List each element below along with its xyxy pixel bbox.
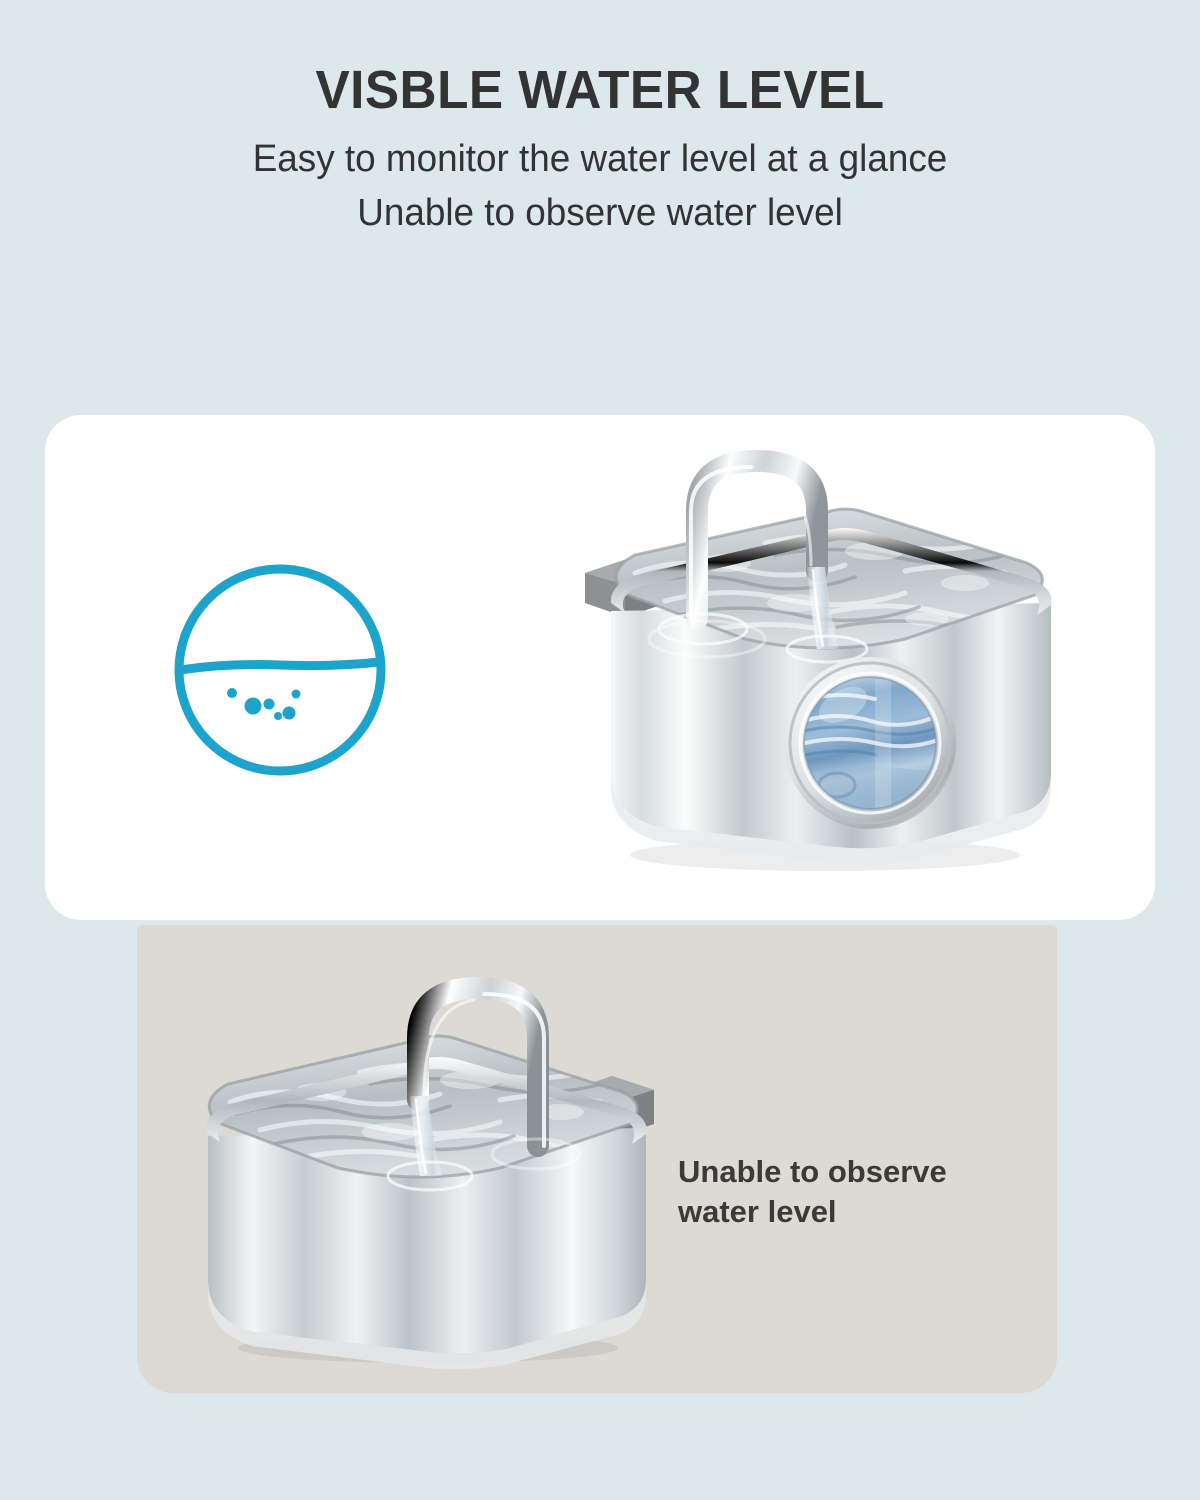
stainless-steel-pet-fountain-with-window	[575, 443, 1075, 903]
caption-line-1: Unable to observe	[678, 1152, 1028, 1192]
subtitle-line-2: Unable to observe water level	[18, 187, 1182, 241]
header: VISBLE WATER LEVEL Easy to monitor the w…	[0, 0, 1200, 241]
water-level-window	[784, 657, 956, 829]
stainless-steel-pet-fountain-no-window	[180, 950, 680, 1370]
water-level-circle-icon	[168, 558, 392, 782]
page-title: VISBLE WATER LEVEL	[30, 62, 1170, 119]
caption-line-2: water level	[678, 1192, 1028, 1232]
no-window-caption: Unable to observe water level	[678, 1152, 1028, 1231]
subtitle-line-1: Easy to monitor the water level at a gla…	[18, 133, 1182, 187]
